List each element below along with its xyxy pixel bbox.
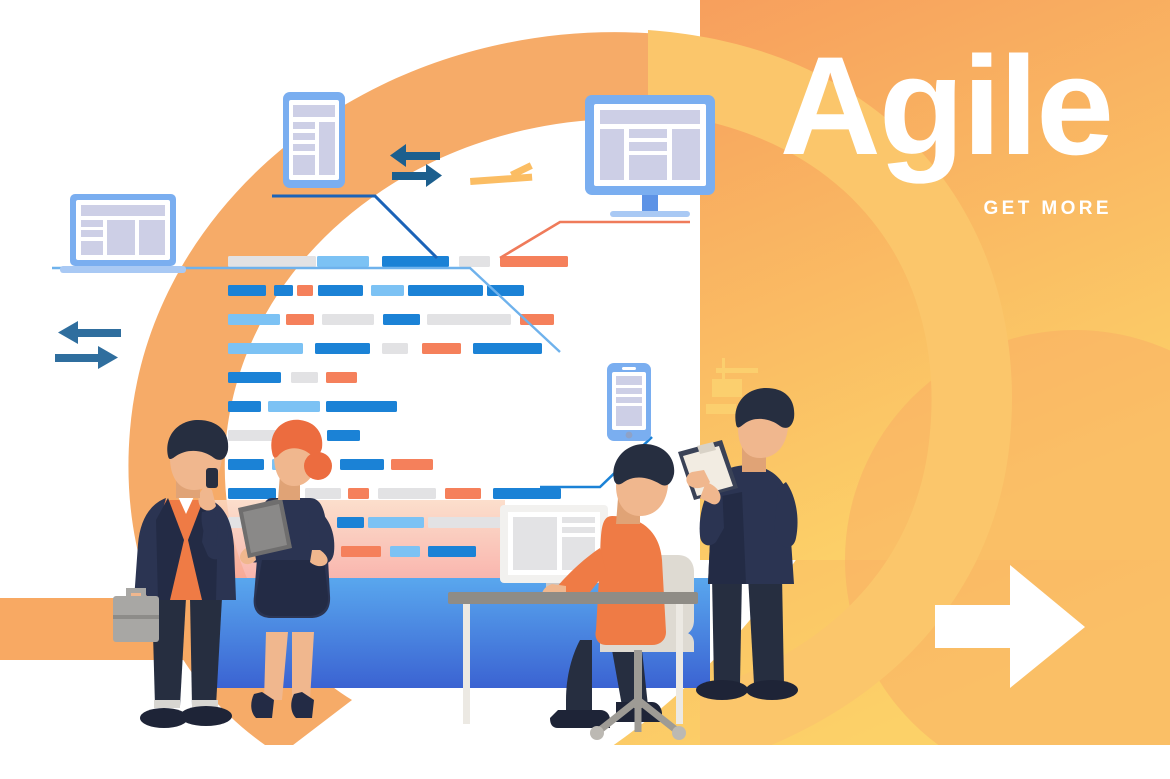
gantt-bar-blue [493, 488, 561, 499]
gantt-bar-light_blue [228, 343, 303, 354]
gantt-bar-gray [291, 372, 318, 383]
gantt-bar-blue [228, 459, 264, 470]
gantt-bar-blue [318, 285, 363, 296]
tablet-icon [283, 92, 345, 188]
gantt-bar-blue [383, 314, 420, 325]
gantt-bar-gray [228, 256, 316, 267]
gantt-bar-light_blue [390, 546, 420, 557]
gantt-bar-blue [228, 488, 276, 499]
gantt-bar-gray [427, 314, 511, 325]
gantt-bar-gray [459, 256, 490, 267]
gantt-bar-gray [428, 517, 503, 528]
gantt-bar-blue [428, 546, 476, 557]
illustration-canvas: Agile GET MORE [0, 0, 1170, 779]
gantt-bar-coral [286, 314, 314, 325]
gantt-row [228, 314, 554, 325]
gantt-bar-blue [340, 459, 384, 470]
gantt-bar-blue [382, 256, 449, 267]
gantt-bar-light_blue [371, 285, 404, 296]
gantt-bar-blue [228, 285, 266, 296]
gantt-bar-blue [315, 343, 370, 354]
gantt-row [228, 372, 357, 383]
smartphone-icon [607, 363, 651, 441]
gantt-row [228, 256, 568, 267]
gantt-bar-light_blue [317, 256, 369, 267]
gantt-bar-gray [305, 488, 341, 499]
gantt-bar-blue [327, 430, 360, 441]
gantt-bar-gray [322, 314, 374, 325]
gantt-bar-coral [297, 285, 313, 296]
gantt-row [341, 546, 476, 557]
gantt-bar-coral [348, 488, 369, 499]
gantt-bar-light_blue [368, 517, 424, 528]
gantt-bar-coral [326, 372, 357, 383]
gantt-bar-blue [274, 285, 293, 296]
gantt-bar-coral [341, 546, 381, 557]
page-subtitle: GET MORE [983, 198, 1112, 220]
gantt-bar-blue [473, 343, 542, 354]
page-title: Agile [780, 36, 1112, 176]
gantt-bar-blue [326, 401, 397, 412]
gantt-bar-light_blue [268, 401, 320, 412]
gantt-bar-gray [378, 488, 436, 499]
gantt-bar-gray [382, 343, 408, 354]
gantt-bar-blue [337, 517, 364, 528]
gantt-row [228, 343, 542, 354]
gantt-bar-light_blue [228, 314, 280, 325]
bottom-band [0, 745, 1170, 779]
gantt-bar-coral [422, 343, 461, 354]
pill-decoration [221, 147, 261, 155]
gantt-bar-blue [408, 285, 483, 296]
gantt-bar-blue [228, 372, 281, 383]
gantt-row [228, 401, 397, 412]
gantt-bar-coral [391, 459, 433, 470]
gantt-bar-coral [500, 256, 568, 267]
laptop-icon [60, 194, 186, 273]
gantt-bar-coral [445, 488, 481, 499]
gantt-bar-blue [228, 401, 261, 412]
